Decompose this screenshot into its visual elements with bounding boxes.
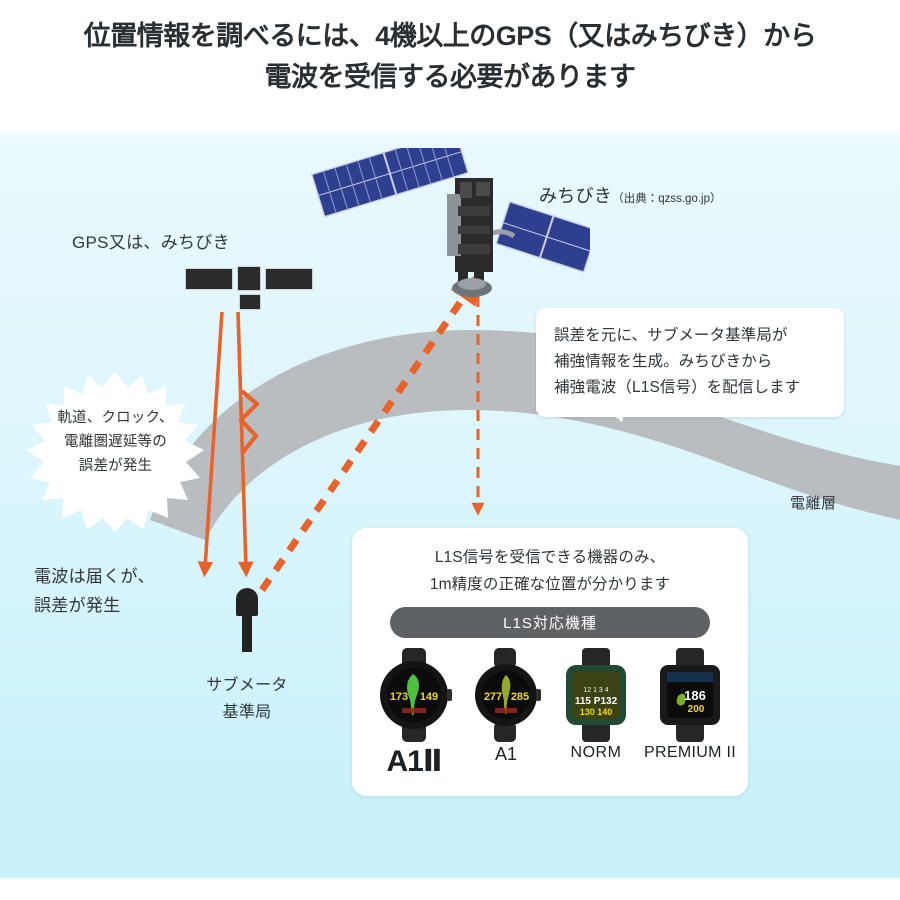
error-note-line-1: 電波は届くが、 — [34, 562, 155, 591]
michibiki-credit: （出典：qzss.go.jp） — [612, 193, 721, 205]
error-note-line-2: 誤差が発生 — [34, 591, 155, 620]
watch-round-icon: 277 285 — [462, 648, 550, 742]
base-station-label-line-1: サブメータ — [182, 672, 312, 699]
base-station-label-line-2: 基準局 — [182, 699, 312, 726]
title-line-2: 電波を受信する必要があります — [0, 57, 900, 98]
svg-text:12 1 3 4: 12 1 3 4 — [583, 687, 608, 694]
gps-antenna-icon — [239, 294, 261, 310]
watch-readout-left: 277 — [484, 691, 502, 703]
michibiki-satellite-icon — [300, 148, 590, 328]
infographic-canvas: 位置情報を調べるには、4機以上のGPS（又はみちびき）から 電波を受信する必要が… — [0, 0, 900, 900]
michibiki-label: みちびき（出典：qzss.go.jp） — [539, 182, 721, 208]
watch-readout-bottom: 130 140 — [580, 707, 613, 717]
watch-readout-left: 115 P132 — [575, 696, 618, 707]
watch-square-icon: 12 1 3 4 115 P132 130 140 — [550, 648, 642, 742]
l1s-compatible-pill: L1S対応機種 — [390, 607, 710, 638]
error-starburst-text: 軌道、クロック、 電離圏遅延等の 誤差が発生 — [8, 406, 223, 478]
watch-item-premium-ii[interactable]: 186 200 PREMIUM II — [640, 648, 740, 747]
watch-name-premium-ii: PREMIUM II — [640, 744, 740, 762]
watch-readout-left: 173 — [390, 691, 408, 703]
panel-heading: L1S信号を受信できる機器のみ、 1m精度の正確な位置が分かります — [352, 544, 748, 598]
watch-readout-right: 285 — [511, 691, 529, 703]
burst-line-2: 電離圏遅延等の — [8, 430, 223, 454]
signal-distortion-zigzag — [241, 392, 257, 452]
l1s-compatible-pill-label: L1S対応機種 — [503, 612, 597, 633]
compatible-devices-panel: L1S信号を受信できる機器のみ、 1m精度の正確な位置が分かります L1S対応機… — [352, 528, 748, 796]
augmentation-callout: 誤差を元に、サブメータ基準局が 補強情報を生成。みちびきから 補強電波（L1S信… — [536, 308, 844, 417]
watch-square-icon: 186 200 — [640, 648, 740, 742]
error-starburst: 軌道、クロック、 電離圏遅延等の 誤差が発生 — [8, 372, 223, 532]
base-station-icon — [232, 588, 262, 650]
page-title: 位置情報を調べるには、4機以上のGPS（又はみちびき）から 電波を受信する必要が… — [0, 16, 900, 98]
watch-name-a1: A1 — [462, 744, 550, 765]
gps-panel-left-icon — [185, 268, 233, 290]
panel-heading-line-1: L1S信号を受信できる機器のみ、 — [352, 544, 748, 571]
watch-readout-left: 186 — [684, 688, 706, 703]
watch-name-norm: NORM — [550, 744, 642, 762]
ionosphere-label: 電離層 — [790, 492, 837, 513]
watch-item-norm[interactable]: 12 1 3 4 115 P132 130 140 NORM — [550, 648, 642, 747]
base-station-pole-icon — [242, 610, 252, 652]
watch-item-a1ii[interactable]: 173 149 A1Ⅱ — [366, 648, 462, 747]
base-station-label: サブメータ 基準局 — [182, 672, 312, 726]
title-line-1: 位置情報を調べるには、4機以上のGPS（又はみちびき）から — [0, 16, 900, 57]
michibiki-name: みちびき — [539, 186, 612, 206]
callout-line-3: 補強電波（L1S信号）を配信します — [554, 375, 828, 401]
callout-line-2: 補強情報を生成。みちびきから — [554, 349, 828, 375]
watch-name-a1ii: A1Ⅱ — [366, 744, 462, 779]
watch-readout-right: 149 — [420, 691, 438, 703]
gps-source-label: GPS又は、みちびき — [72, 228, 230, 253]
signal-error-note: 電波は届くが、 誤差が発生 — [34, 562, 155, 620]
burst-line-3: 誤差が発生 — [8, 454, 223, 478]
callout-line-1: 誤差を元に、サブメータ基準局が — [554, 323, 828, 349]
watch-round-icon: 173 149 — [366, 648, 462, 742]
burst-line-1: 軌道、クロック、 — [8, 406, 223, 430]
watch-item-a1[interactable]: 277 285 A1 — [462, 648, 550, 747]
gps-satellite-icon — [185, 264, 305, 314]
watch-readout-right: 200 — [688, 704, 705, 715]
gps-body-icon — [237, 266, 261, 291]
watch-lineup: 173 149 A1Ⅱ 277 285 — [352, 648, 748, 796]
panel-heading-line-2: 1m精度の正確な位置が分かります — [352, 571, 748, 598]
